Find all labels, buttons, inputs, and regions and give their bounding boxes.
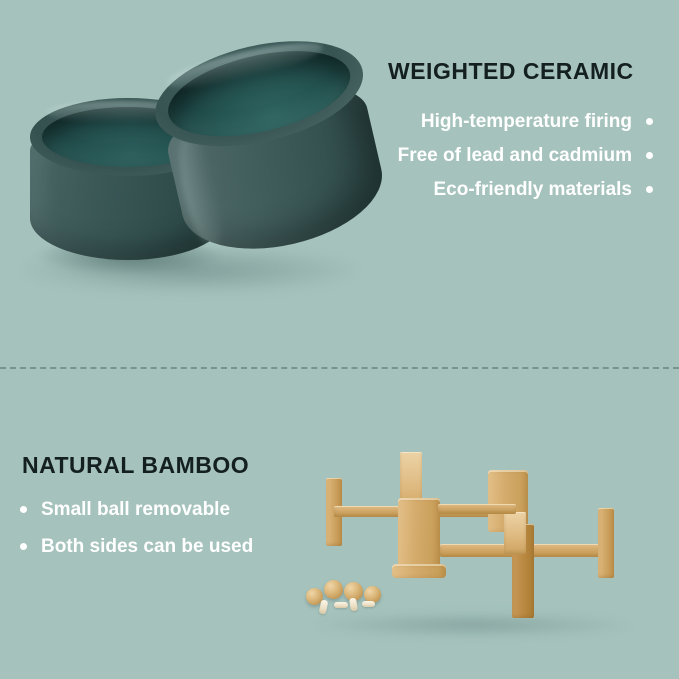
ball-peg bbox=[334, 602, 348, 608]
stand-leg bbox=[598, 508, 614, 578]
bullet-dot-icon bbox=[20, 543, 27, 550]
stand-floor-shadow bbox=[308, 612, 638, 638]
feature-text: Small ball removable bbox=[41, 500, 230, 519]
ceramic-section-title: WEIGHTED CERAMIC bbox=[388, 58, 634, 85]
list-item: High-temperature firing bbox=[398, 112, 653, 131]
ball-peg bbox=[319, 599, 329, 614]
stand-cross-rail bbox=[438, 504, 516, 514]
feature-text: Free of lead and cadmium bbox=[398, 146, 632, 165]
list-item: Free of lead and cadmium bbox=[398, 146, 653, 165]
list-item: Eco-friendly materials bbox=[398, 180, 653, 199]
list-item: Small ball removable bbox=[20, 500, 253, 519]
bamboo-stand-photo bbox=[290, 440, 679, 679]
ceramic-section: WEIGHTED CERAMIC High-temperature firing… bbox=[0, 0, 679, 368]
ceramic-feature-list: High-temperature firing Free of lead and… bbox=[398, 112, 653, 214]
bamboo-feature-list: Small ball removable Both sides can be u… bbox=[20, 500, 253, 574]
ceramic-bowls-photo bbox=[0, 0, 388, 368]
ball-peg bbox=[362, 601, 375, 607]
product-feature-image: WEIGHTED CERAMIC High-temperature firing… bbox=[0, 0, 679, 679]
stand-post bbox=[504, 512, 526, 554]
bullet-dot-icon bbox=[646, 152, 653, 159]
bamboo-section-title: NATURAL BAMBOO bbox=[22, 452, 249, 479]
bullet-dot-icon bbox=[646, 118, 653, 125]
feature-text: Both sides can be used bbox=[41, 537, 253, 556]
wooden-ball bbox=[324, 580, 343, 599]
stand-side-panel-left-foot bbox=[392, 564, 446, 578]
bullet-dot-icon bbox=[20, 506, 27, 513]
bullet-dot-icon bbox=[646, 186, 653, 193]
feature-text: High-temperature firing bbox=[421, 112, 632, 131]
feature-text: Eco-friendly materials bbox=[433, 180, 632, 199]
list-item: Both sides can be used bbox=[20, 537, 253, 556]
